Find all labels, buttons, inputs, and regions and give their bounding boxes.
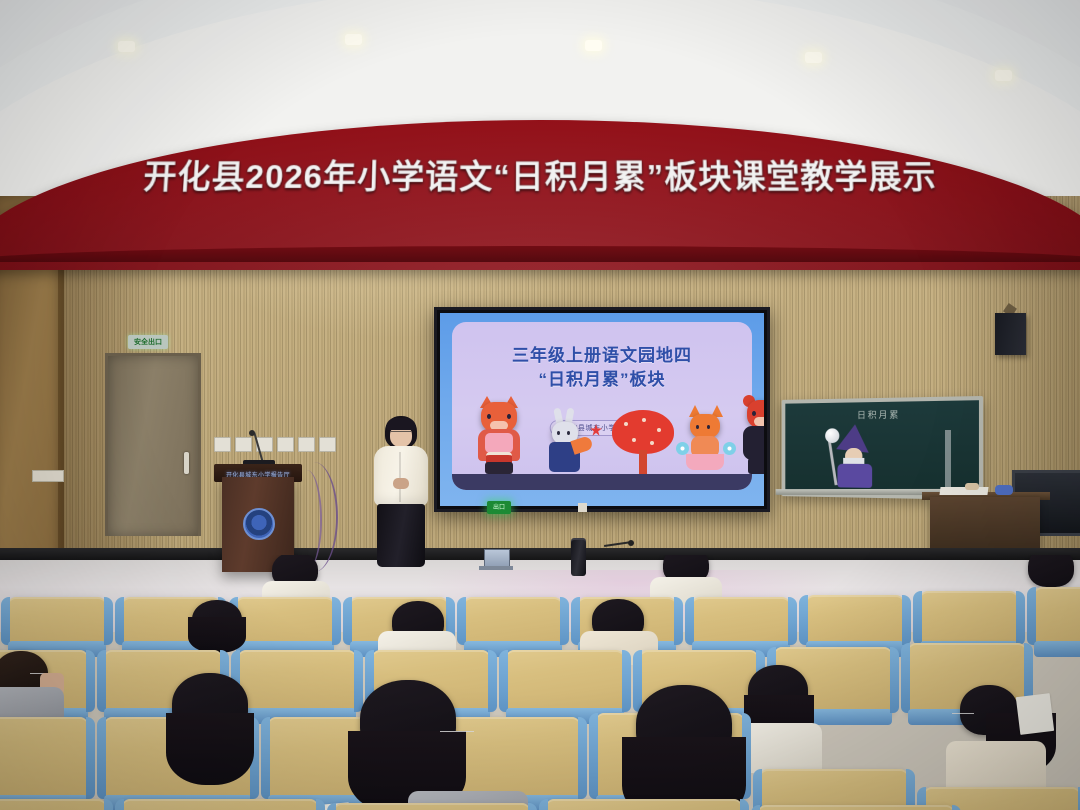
gooseneck-microphone-head <box>628 540 634 546</box>
seat[interactable] <box>0 799 106 810</box>
exit-sign-lower-label: 出口 <box>493 505 505 511</box>
seat[interactable] <box>334 803 530 810</box>
slide-title-line2: “日积月累”板块 <box>452 368 752 392</box>
wizard-cutout-icon <box>830 424 882 488</box>
audience-glasses <box>952 713 974 714</box>
slide-card: 三年级上册语文园地四 “日积月累”板块 开化县城东小学 郑家霞 <box>452 322 752 490</box>
ceiling-downlight <box>345 34 362 45</box>
desk-item-beige <box>965 483 979 490</box>
seat[interactable] <box>506 650 624 712</box>
banner-title-text: 开化县2026年小学语文“日积月累”板块课堂教学展示 <box>0 150 1080 198</box>
desk-item-blue <box>995 485 1013 495</box>
socket[interactable] <box>277 437 294 452</box>
slide-illustration-rabbit <box>546 414 584 474</box>
seat[interactable] <box>806 595 904 645</box>
slide-illustration-fox <box>684 412 728 474</box>
photo-scene: 开化县2026年小学语文“日积月累”板块课堂教学展示 安全出口 三年级上册语文园… <box>0 0 1080 810</box>
wall-power-sockets[interactable] <box>214 437 336 452</box>
presenter <box>370 416 432 571</box>
projection-screen: 三年级上册语文园地四 “日积月累”板块 开化县城东小学 郑家霞 <box>440 313 764 506</box>
exit-sign-lower: 出口 <box>487 501 511 514</box>
exit-sign-upper: 安全出口 <box>128 335 168 349</box>
wall-plate-center <box>578 503 587 512</box>
wall-speaker <box>995 313 1026 355</box>
exit-sign-upper-label: 安全出口 <box>134 339 162 346</box>
audience-glasses <box>440 731 474 732</box>
socket[interactable] <box>235 437 252 452</box>
slide-illustration-tree <box>612 410 674 474</box>
slide-illustration-cat <box>476 402 522 474</box>
school-crest-icon <box>243 508 275 540</box>
socket[interactable] <box>214 437 231 452</box>
seat[interactable] <box>692 597 790 645</box>
seat[interactable] <box>546 799 742 810</box>
seat[interactable] <box>760 769 908 810</box>
ceiling-downlight <box>585 40 602 51</box>
door-handle[interactable] <box>184 452 189 474</box>
podium-microphone-head <box>249 430 255 436</box>
seat[interactable] <box>0 717 88 799</box>
blackboard: 日积月累 <box>782 396 984 500</box>
seat[interactable] <box>238 650 356 712</box>
seat[interactable] <box>236 597 334 645</box>
desk-papers <box>939 487 988 495</box>
ceiling-downlight <box>995 70 1012 81</box>
projection-screen-frame: 三年级上册语文园地四 “日积月累”板块 开化县城东小学 郑家霞 <box>434 307 770 512</box>
seat[interactable] <box>464 597 562 645</box>
seat[interactable] <box>8 597 106 645</box>
slide-illustration-bear <box>740 400 764 474</box>
audience-hair <box>166 713 254 785</box>
seat[interactable] <box>920 591 1018 645</box>
paper-sheets <box>1016 693 1054 735</box>
wooden-desk <box>930 497 1040 552</box>
socket[interactable] <box>319 437 336 452</box>
wall-plate <box>32 470 64 482</box>
socket[interactable] <box>298 437 315 452</box>
seat[interactable] <box>758 805 954 810</box>
ceiling-downlight <box>118 41 135 52</box>
blackboard-heading: 日积月累 <box>785 406 979 422</box>
slide-title: 三年级上册语文园地四 “日积月累”板块 <box>452 344 752 392</box>
ceiling-downlight <box>805 52 822 63</box>
slide-title-line1: 三年级上册语文园地四 <box>452 344 752 368</box>
auditorium-seating <box>0 555 1080 810</box>
slide-ground-strip <box>452 474 752 490</box>
audience-hair <box>188 617 246 653</box>
audience-head <box>1028 555 1074 587</box>
side-door[interactable] <box>105 353 201 536</box>
seat[interactable] <box>122 799 318 810</box>
seat[interactable] <box>1034 587 1080 645</box>
